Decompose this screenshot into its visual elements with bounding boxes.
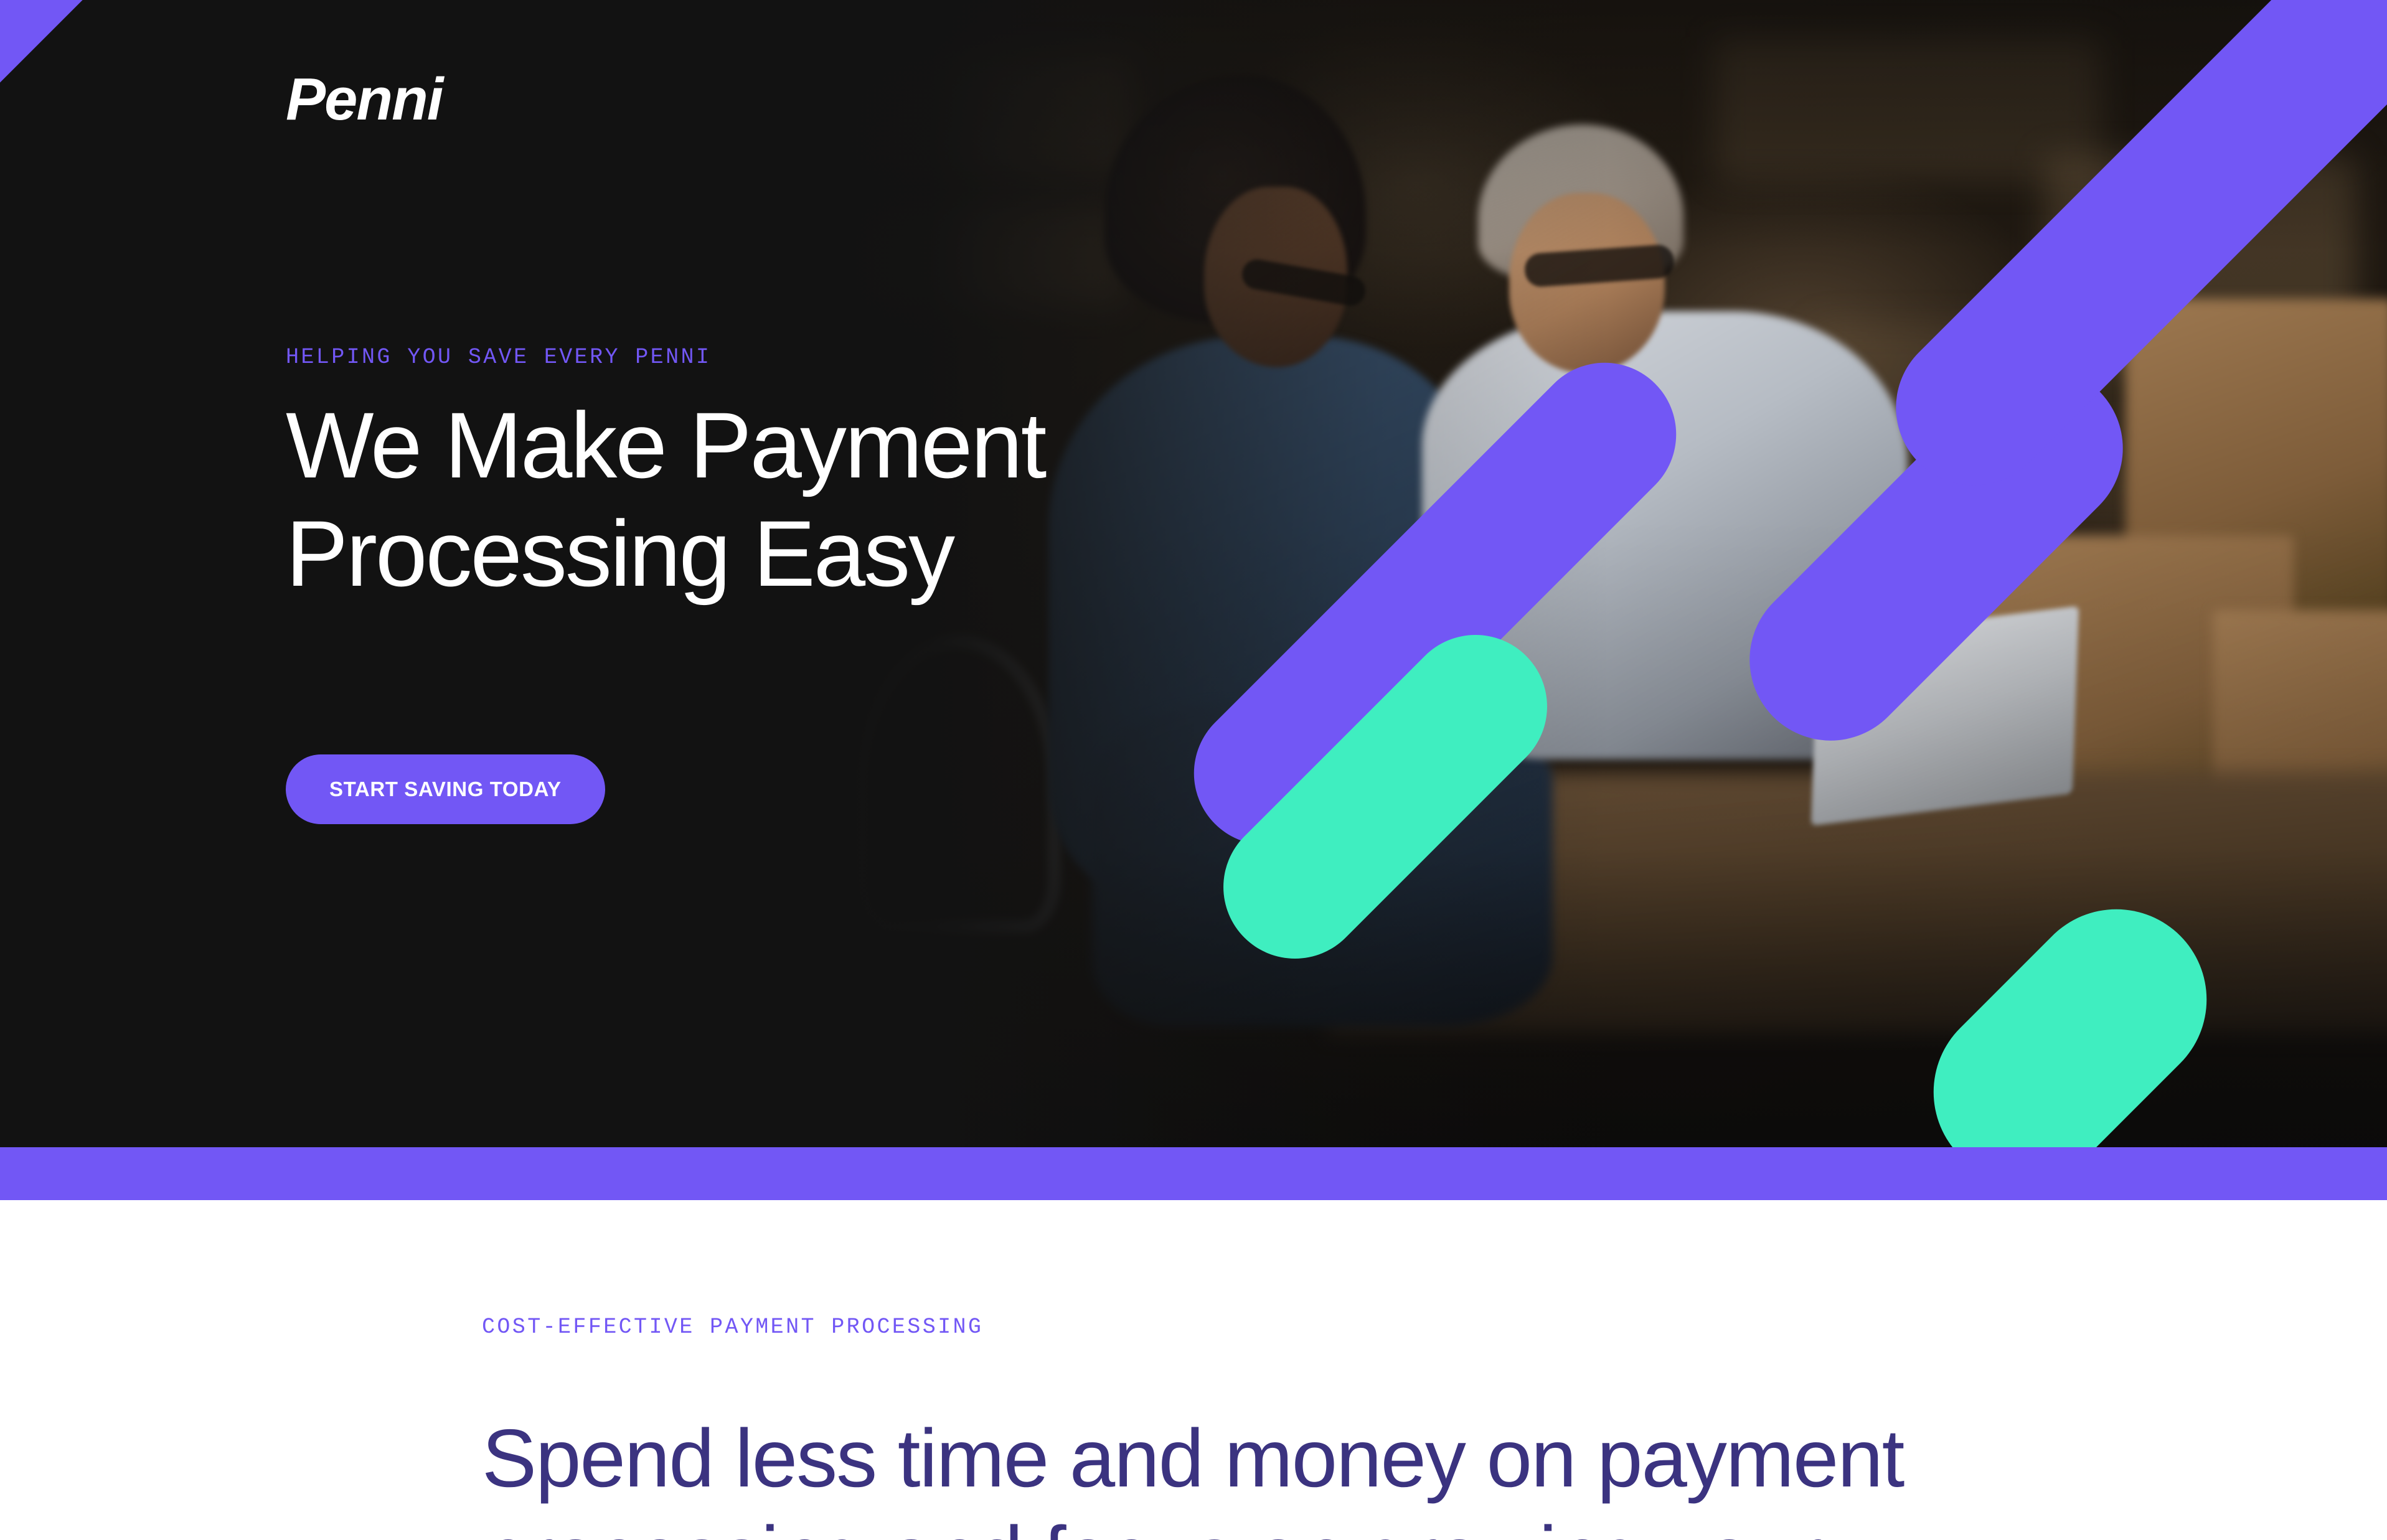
section-headline-line-2: processing and focus on growing your: [482, 1509, 1821, 1540]
purple-divider-bar: [0, 1147, 2387, 1200]
start-saving-today-button[interactable]: START SAVING TODAY: [286, 754, 605, 824]
capsule-purple-top-left: [0, 0, 335, 210]
hero-content: Penni HELPING YOU SAVE EVERY PENNI We Ma…: [286, 0, 1344, 1147]
section-headline-line-1: Spend less time and money on payment: [482, 1412, 1903, 1504]
section-eyebrow: COST-EFFECTIVE PAYMENT PROCESSING: [482, 1315, 983, 1340]
hero-headline-line-2: Processing Easy: [286, 501, 953, 606]
hero-headline-line-1: We Make Payment: [286, 393, 1045, 497]
capsule-purple-top-right: [1864, 0, 2387, 517]
hero-eyebrow: HELPING YOU SAVE EVERY PENNI: [286, 345, 711, 370]
section-headline: Spend less time and money on payment pro…: [482, 1410, 1976, 1540]
capsule-mint-right: [1896, 872, 2244, 1147]
hero-headline: We Make Payment Processing Easy: [286, 391, 1332, 608]
hero-section: Penni HELPING YOU SAVE EVERY PENNI We Ma…: [0, 0, 2387, 1147]
value-proposition-section: COST-EFFECTIVE PAYMENT PROCESSING Spend …: [0, 1200, 2387, 1540]
value-proposition-inner: COST-EFFECTIVE PAYMENT PROCESSING Spend …: [0, 1200, 2387, 1540]
brand-logo[interactable]: Penni: [286, 70, 442, 129]
